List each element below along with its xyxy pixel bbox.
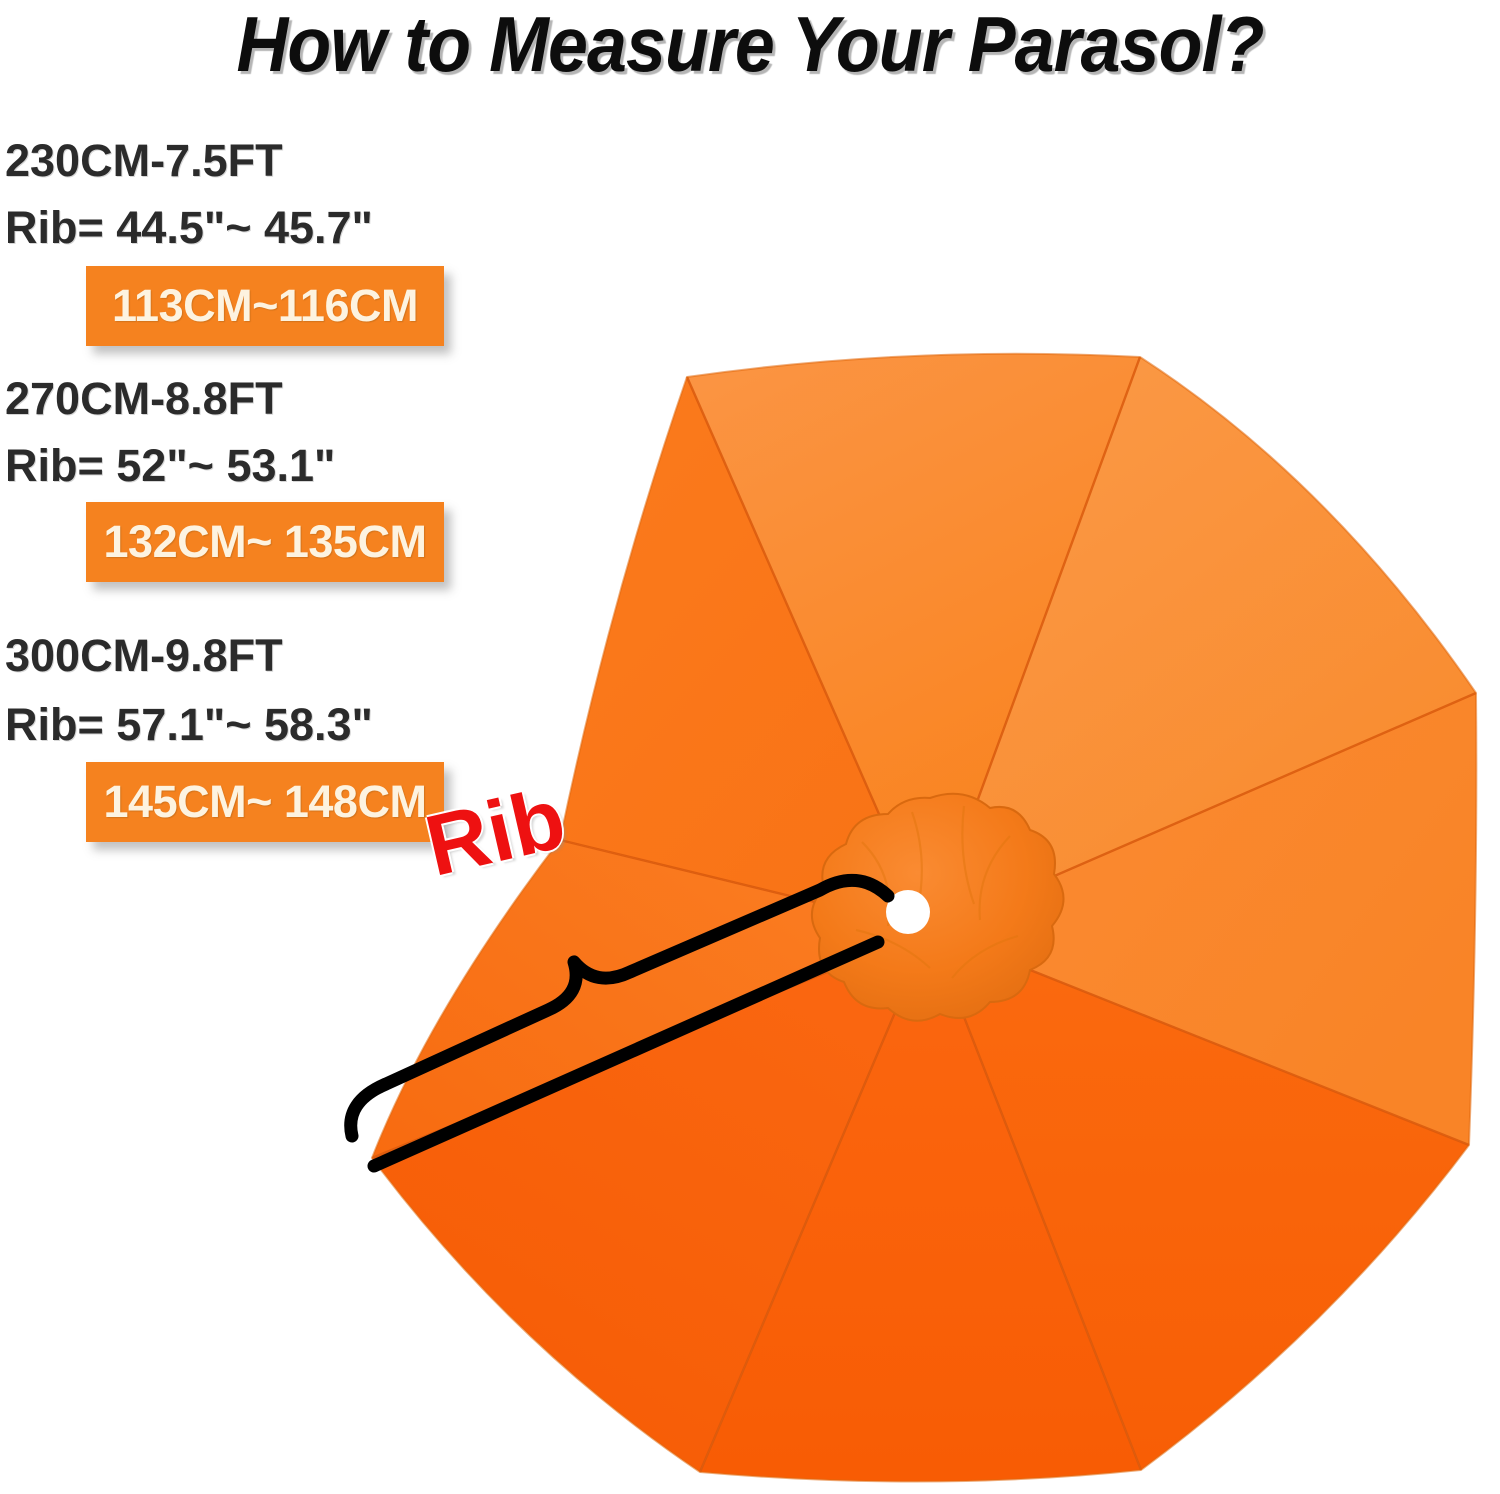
measurement-badge-3: 145CM~ 148CM <box>86 762 444 842</box>
measurement-badge-2: 132CM~ 135CM <box>86 502 444 582</box>
measurement-badge-label-3: 145CM~ 148CM <box>104 776 427 828</box>
size-label-1: 230CM-7.5FT <box>5 136 283 186</box>
measurement-badge-label-1: 113CM~116CM <box>112 280 418 332</box>
infographic-page: How to Measure Your Parasol? <box>0 0 1500 1494</box>
size-label-2: 270CM-8.8FT <box>5 374 283 424</box>
rib-range-3: Rib= 57.1"~ 58.3" <box>5 700 373 750</box>
rib-range-1: Rib= 44.5"~ 45.7" <box>5 203 373 253</box>
measurement-badge-1: 113CM~116CM <box>86 266 444 346</box>
size-label-3: 300CM-9.8FT <box>5 631 283 681</box>
measurement-badge-label-2: 132CM~ 135CM <box>104 516 427 568</box>
rib-range-2: Rib= 52"~ 53.1" <box>5 441 335 491</box>
